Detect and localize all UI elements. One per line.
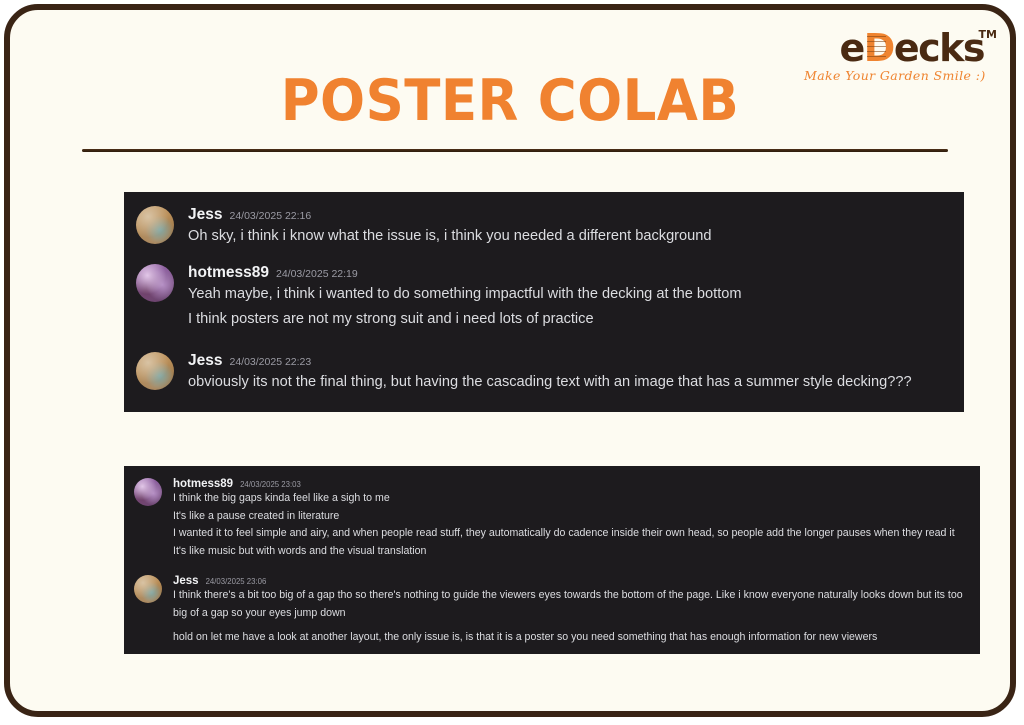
message-line: Oh sky, i think i know what the issue is… — [188, 224, 964, 249]
message-timestamp: 24/03/2025 22:16 — [229, 210, 311, 222]
message-line: It's like music but with words and the v… — [173, 543, 980, 561]
message-author: Jess — [173, 575, 199, 587]
message-timestamp: 24/03/2025 23:03 — [240, 480, 301, 489]
poster-page-frame: eDecksTM Make Your Garden Smile :) POSTE… — [4, 4, 1016, 717]
avatar — [136, 352, 174, 390]
message-author: hotmess89 — [173, 478, 233, 490]
message-header: Jess 24/03/2025 23:06 — [173, 575, 980, 587]
message-group: Jess 24/03/2025 22:23 obviously its not … — [136, 352, 964, 395]
message-body: Jess 24/03/2025 22:23 obviously its not … — [188, 352, 964, 395]
chat-screenshot-bottom: hotmess89 24/03/2025 23:03 I think the b… — [124, 466, 980, 654]
message-timestamp: 24/03/2025 22:19 — [276, 268, 358, 280]
message-line: I think posters are not my strong suit a… — [188, 307, 964, 332]
message-line: I think there's a bit too big of a gap t… — [173, 587, 980, 605]
message-line: obviously its not the final thing, but h… — [188, 370, 964, 395]
message-body: Jess 24/03/2025 22:16 Oh sky, i think i … — [188, 206, 964, 249]
message-body: hotmess89 24/03/2025 23:03 I think the b… — [173, 478, 980, 560]
message-line: hold on let me have a look at another la… — [173, 629, 980, 647]
logo-decking-d: D — [864, 30, 894, 67]
logo-text-ecks: ecks — [894, 26, 984, 70]
message-header: hotmess89 24/03/2025 22:19 — [188, 264, 964, 282]
avatar — [134, 478, 162, 506]
message-timestamp: 24/03/2025 22:23 — [229, 356, 311, 368]
message-author: Jess — [188, 352, 222, 370]
message-group: hotmess89 24/03/2025 22:19 Yeah maybe, i… — [136, 264, 964, 332]
message-group: Jess 24/03/2025 22:16 Oh sky, i think i … — [136, 192, 964, 249]
message-body: hotmess89 24/03/2025 22:19 Yeah maybe, i… — [188, 264, 964, 332]
message-header: Jess 24/03/2025 22:23 — [188, 352, 964, 370]
message-header: hotmess89 24/03/2025 23:03 — [173, 478, 980, 490]
avatar — [136, 206, 174, 244]
message-group: Jess 24/03/2025 23:06 I think there's a … — [134, 575, 980, 647]
message-line: I wanted it to feel simple and airy, and… — [173, 525, 980, 543]
message-header: Jess 24/03/2025 22:16 — [188, 206, 964, 224]
chat-screenshot-top: Jess 24/03/2025 22:16 Oh sky, i think i … — [124, 192, 964, 412]
edecks-wordmark: eDecksTM — [839, 30, 984, 67]
message-author: hotmess89 — [188, 264, 269, 282]
message-body: Jess 24/03/2025 23:06 I think there's a … — [173, 575, 980, 647]
message-line: It's like a pause created in literature — [173, 508, 980, 526]
trademark-mark: TM — [979, 30, 997, 41]
avatar — [136, 264, 174, 302]
message-line: I think the big gaps kinda feel like a s… — [173, 490, 980, 508]
title-divider — [82, 149, 948, 152]
message-author: Jess — [188, 206, 222, 224]
logo-text-e: e — [839, 26, 863, 70]
message-line: Yeah maybe, i think i wanted to do somet… — [188, 282, 964, 307]
message-group: hotmess89 24/03/2025 23:03 I think the b… — [134, 466, 980, 560]
avatar — [134, 575, 162, 603]
message-line: big of a gap so your eyes jump down — [173, 605, 980, 623]
page-title: POSTER COLAB — [45, 68, 975, 134]
message-timestamp: 24/03/2025 23:06 — [206, 577, 267, 586]
